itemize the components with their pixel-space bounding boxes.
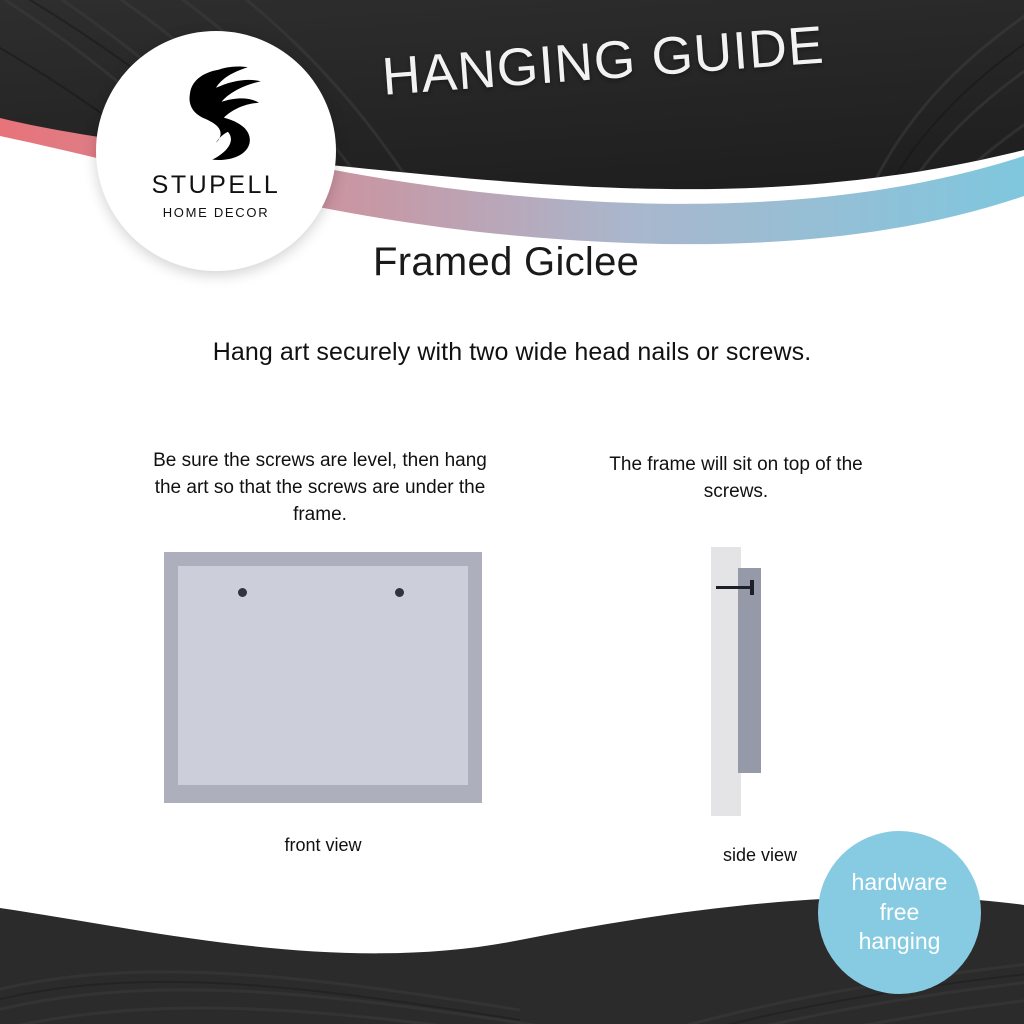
hardware-free-hanging-badge: hardware free hanging <box>818 831 981 994</box>
main-instruction-text: Hang art securely with two wide head nai… <box>0 338 1024 367</box>
logo-tagline: HOME DECOR <box>163 206 270 219</box>
screw-dot-right-icon <box>395 588 404 597</box>
badge-line-2: free <box>880 898 920 927</box>
front-view-art-panel <box>178 566 468 785</box>
stupell-swoosh-icon <box>160 57 272 169</box>
badge-line-3: hanging <box>859 927 941 956</box>
badge-line-1: hardware <box>852 868 948 897</box>
screw-dot-left-icon <box>238 588 247 597</box>
hanging-guide-page: STUPELL HOME DECOR HANGING GUIDE Framed … <box>0 0 1024 1024</box>
page-title: HANGING GUIDE <box>380 15 826 108</box>
front-view-frame-illustration <box>164 552 482 803</box>
side-view-frame-slab <box>738 568 761 773</box>
side-view-illustration <box>700 544 820 819</box>
nail-head-icon <box>750 580 754 595</box>
front-view-label: front view <box>164 835 482 856</box>
logo-name: STUPELL <box>152 173 281 198</box>
front-view-caption: Be sure the screws are level, then hang … <box>150 448 490 529</box>
brand-logo-badge: STUPELL HOME DECOR <box>96 31 336 271</box>
product-type-heading: Framed Giclee <box>373 240 639 285</box>
nail-shaft-icon <box>716 586 753 589</box>
side-view-label: side view <box>660 845 860 866</box>
side-view-caption: The frame will sit on top of the screws. <box>588 452 884 506</box>
